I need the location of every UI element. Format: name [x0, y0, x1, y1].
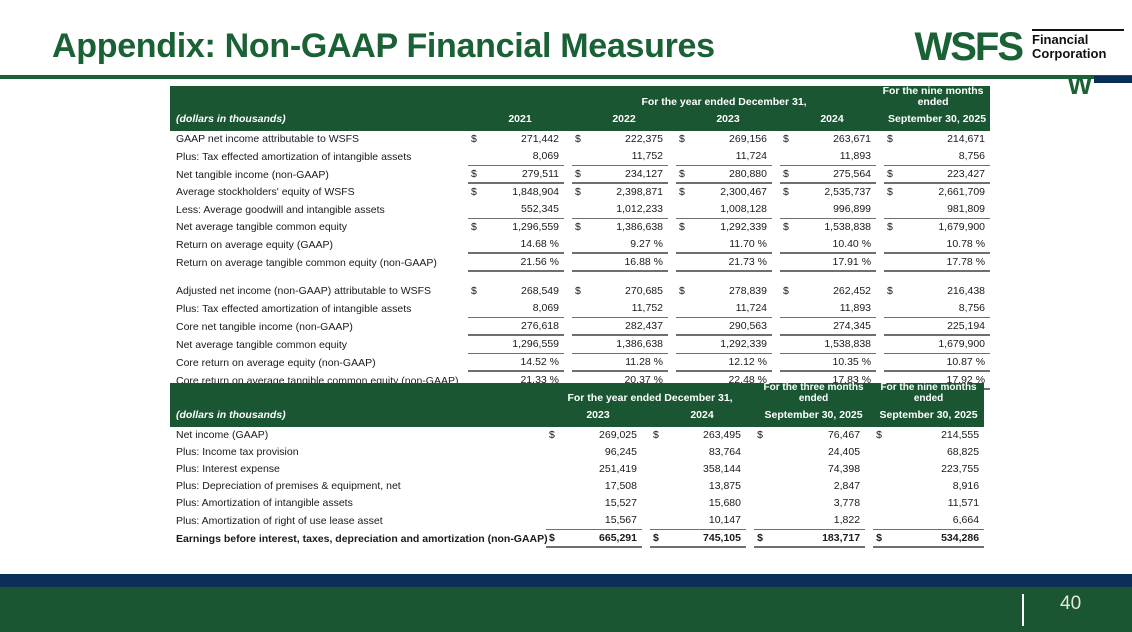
page-title: Appendix: Non-GAAP Financial Measures: [52, 27, 715, 66]
table-row: Net tangible income (non-GAAP)$279,511$2…: [170, 166, 990, 184]
value-cell: 223,755: [889, 461, 984, 478]
currency-symbol: [873, 444, 889, 461]
group-header-year-ended: For the year ended December 31,: [572, 86, 876, 108]
non-gaap-returns-table: For the year ended December 31, For the …: [170, 86, 990, 390]
currency-symbol: $: [873, 530, 889, 548]
currency-symbol: [676, 254, 692, 272]
value-cell: 10,147: [666, 512, 746, 530]
value-cell: 2,535,737: [796, 184, 876, 202]
col-header-2023: 2023: [676, 108, 780, 125]
currency-symbol: $: [650, 427, 666, 444]
currency-symbol: [572, 354, 588, 372]
value-cell: 1,848,904: [484, 184, 564, 202]
currency-symbol: [650, 461, 666, 478]
value-cell: 11.70 %: [692, 236, 772, 254]
table-one-group-header-row: For the year ended December 31, For the …: [170, 86, 990, 108]
group-header-nine-months: For the nine months ended: [873, 383, 984, 404]
value-cell: 183,717: [770, 530, 865, 548]
value-cell: 11,571: [889, 495, 984, 512]
currency-symbol: $: [884, 219, 900, 237]
currency-symbol: [468, 148, 484, 166]
currency-symbol: $: [546, 530, 562, 548]
currency-symbol: $: [676, 184, 692, 202]
currency-symbol: [676, 201, 692, 219]
currency-symbol: [468, 354, 484, 372]
currency-symbol: $: [780, 166, 796, 184]
currency-symbol: [468, 336, 484, 354]
table-section-spacer: [170, 272, 990, 284]
table-two-group-header-row: For the year ended December 31, For the …: [170, 383, 984, 404]
currency-symbol: [468, 236, 484, 254]
table-row: Earnings before interest, taxes, depreci…: [170, 530, 984, 548]
value-cell: 10.87 %: [900, 354, 990, 372]
value-cell: 534,286: [889, 530, 984, 548]
row-label: Earnings before interest, taxes, depreci…: [170, 530, 538, 548]
currency-symbol: $: [676, 219, 692, 237]
value-cell: 1,386,638: [588, 219, 668, 237]
table-two-body: Net income (GAAP)$269,025$263,495$76,467…: [170, 427, 984, 548]
value-cell: 270,685: [588, 283, 668, 300]
units-label: (dollars in thousands): [170, 404, 538, 421]
row-label: Net average tangible common equity: [170, 219, 460, 237]
col-header-2024: 2024: [650, 404, 754, 421]
value-cell: 268,549: [484, 283, 564, 300]
row-label: Plus: Income tax provision: [170, 444, 538, 461]
currency-symbol: $: [572, 219, 588, 237]
value-cell: 214,555: [889, 427, 984, 444]
col-header-three-months-sept-2025: September 30, 2025: [754, 404, 873, 421]
value-cell: 17,508: [562, 478, 642, 495]
value-cell: 271,442: [484, 131, 564, 148]
currency-symbol: [754, 478, 770, 495]
value-cell: 2,847: [770, 478, 865, 495]
wsfs-wordmark: WSFS: [914, 28, 1022, 66]
currency-symbol: $: [468, 166, 484, 184]
currency-symbol: $: [572, 131, 588, 148]
footer-navy-bar: [0, 574, 1132, 587]
row-label: Return on average equity (GAAP): [170, 236, 460, 254]
group-header-year-ended: For the year ended December 31,: [546, 383, 754, 404]
value-cell: 10.40 %: [796, 236, 876, 254]
value-cell: 15,567: [562, 512, 642, 530]
row-label: Core return on average equity (non-GAAP): [170, 354, 460, 372]
currency-symbol: [468, 201, 484, 219]
value-cell: 15,527: [562, 495, 642, 512]
currency-symbol: $: [468, 131, 484, 148]
wsfs-w-mark-icon: W: [1067, 72, 1092, 98]
currency-symbol: [650, 512, 666, 530]
currency-symbol: $: [884, 283, 900, 300]
currency-symbol: [572, 336, 588, 354]
currency-symbol: [780, 201, 796, 219]
currency-symbol: $: [780, 219, 796, 237]
value-cell: 24,405: [770, 444, 865, 461]
currency-symbol: [884, 354, 900, 372]
value-cell: 9.27 %: [588, 236, 668, 254]
currency-symbol: $: [873, 427, 889, 444]
value-cell: 358,144: [666, 461, 746, 478]
footer-green-bar: [0, 587, 1132, 632]
value-cell: 11.28 %: [588, 354, 668, 372]
footer-divider-rule: [1022, 594, 1024, 626]
value-cell: 6,664: [889, 512, 984, 530]
group-header-three-months: For the three months ended: [754, 383, 873, 404]
currency-symbol: [780, 148, 796, 166]
value-cell: 1,538,838: [796, 219, 876, 237]
value-cell: 2,398,871: [588, 184, 668, 202]
value-cell: 290,563: [692, 318, 772, 336]
table-row: Plus: Interest expense251,419358,14474,3…: [170, 461, 984, 478]
row-label: Plus: Tax effected amortization of intan…: [170, 300, 460, 318]
currency-symbol: $: [780, 283, 796, 300]
currency-symbol: $: [676, 166, 692, 184]
value-cell: 1,679,900: [900, 336, 990, 354]
row-label: Adjusted net income (non-GAAP) attributa…: [170, 283, 460, 300]
currency-symbol: $: [650, 530, 666, 548]
value-cell: 74,398: [770, 461, 865, 478]
value-cell: 8,916: [889, 478, 984, 495]
table-row: Plus: Income tax provision96,24583,76424…: [170, 444, 984, 461]
currency-symbol: $: [572, 283, 588, 300]
currency-symbol: [572, 201, 588, 219]
value-cell: 11,752: [588, 148, 668, 166]
value-cell: 11,724: [692, 300, 772, 318]
table-row: Plus: Amortization of right of use lease…: [170, 512, 984, 530]
currency-symbol: [873, 478, 889, 495]
value-cell: 12.12 %: [692, 354, 772, 372]
value-cell: 21.73 %: [692, 254, 772, 272]
value-cell: 276,618: [484, 318, 564, 336]
table-row: Net average tangible common equity$1,296…: [170, 219, 990, 237]
col-header-2021: 2021: [468, 108, 572, 125]
value-cell: 8,069: [484, 148, 564, 166]
row-label: Plus: Amortization of right of use lease…: [170, 512, 538, 530]
value-cell: 1,679,900: [900, 219, 990, 237]
col-header-sept-2025: September 30, 2025: [884, 108, 990, 125]
value-cell: 11,724: [692, 148, 772, 166]
value-cell: 1,386,638: [588, 336, 668, 354]
value-cell: 282,437: [588, 318, 668, 336]
currency-symbol: [873, 461, 889, 478]
row-label: Net income (GAAP): [170, 427, 538, 444]
value-cell: 10.78 %: [900, 236, 990, 254]
col-header-2023: 2023: [546, 404, 650, 421]
table-two-column-header-row: (dollars in thousands) 2023 2024 Septemb…: [170, 404, 984, 421]
currency-symbol: $: [572, 166, 588, 184]
currency-symbol: [676, 148, 692, 166]
value-cell: 1,292,339: [692, 219, 772, 237]
value-cell: 8,756: [900, 148, 990, 166]
currency-symbol: [468, 300, 484, 318]
logo-divider-rule: [1032, 29, 1124, 31]
value-cell: 279,511: [484, 166, 564, 184]
table-row: GAAP net income attributable to WSFS$271…: [170, 131, 990, 148]
value-cell: 11,893: [796, 148, 876, 166]
value-cell: 278,839: [692, 283, 772, 300]
table-row: Plus: Tax effected amortization of intan…: [170, 148, 990, 166]
value-cell: 263,495: [666, 427, 746, 444]
value-cell: 96,245: [562, 444, 642, 461]
value-cell: 8,756: [900, 300, 990, 318]
currency-symbol: [572, 318, 588, 336]
wsfs-logo-subtitle: Financial Corporation: [1028, 28, 1124, 61]
currency-symbol: [780, 254, 796, 272]
currency-symbol: [572, 148, 588, 166]
row-label: Core net tangible income (non-GAAP): [170, 318, 460, 336]
currency-symbol: [676, 336, 692, 354]
value-cell: 214,671: [900, 131, 990, 148]
value-cell: 996,899: [796, 201, 876, 219]
value-cell: 14.52 %: [484, 354, 564, 372]
logo-subtitle-line2: Corporation: [1032, 47, 1124, 61]
currency-symbol: $: [884, 166, 900, 184]
page-number: 40: [1060, 593, 1081, 615]
value-cell: 2,300,467: [692, 184, 772, 202]
table-row: Core return on average equity (non-GAAP)…: [170, 354, 990, 372]
value-cell: 234,127: [588, 166, 668, 184]
header-blank-cell: [170, 86, 460, 108]
row-label: Plus: Amortization of intangible assets: [170, 495, 538, 512]
wsfs-logo: WSFS Financial Corporation: [914, 28, 1124, 66]
title-underline-rule: [0, 75, 1132, 79]
row-label: Net average tangible common equity: [170, 336, 460, 354]
value-cell: 68,825: [889, 444, 984, 461]
currency-symbol: [884, 236, 900, 254]
currency-symbol: $: [754, 427, 770, 444]
value-cell: 76,467: [770, 427, 865, 444]
ebitda-reconciliation-table: For the year ended December 31, For the …: [170, 383, 984, 548]
col-header-2022: 2022: [572, 108, 676, 125]
value-cell: 1,296,559: [484, 336, 564, 354]
value-cell: 665,291: [562, 530, 642, 548]
currency-symbol: [780, 336, 796, 354]
currency-symbol: [546, 444, 562, 461]
currency-symbol: $: [780, 184, 796, 202]
currency-symbol: [884, 318, 900, 336]
table-row: Net income (GAAP)$269,025$263,495$76,467…: [170, 427, 984, 444]
currency-symbol: [780, 354, 796, 372]
value-cell: 223,427: [900, 166, 990, 184]
row-label: GAAP net income attributable to WSFS: [170, 131, 460, 148]
value-cell: 269,025: [562, 427, 642, 444]
currency-symbol: [676, 354, 692, 372]
currency-symbol: [572, 300, 588, 318]
currency-symbol: [676, 300, 692, 318]
currency-symbol: [468, 318, 484, 336]
currency-symbol: [676, 318, 692, 336]
value-cell: 552,345: [484, 201, 564, 219]
currency-symbol: [873, 495, 889, 512]
currency-symbol: $: [884, 184, 900, 202]
currency-symbol: $: [754, 530, 770, 548]
value-cell: 1,292,339: [692, 336, 772, 354]
currency-symbol: $: [468, 184, 484, 202]
currency-symbol: [884, 336, 900, 354]
value-cell: 1,538,838: [796, 336, 876, 354]
table-one-column-header-row: (dollars in thousands) 2021 2022 2023 20…: [170, 108, 990, 125]
value-cell: 3,778: [770, 495, 865, 512]
value-cell: 216,438: [900, 283, 990, 300]
value-cell: 1,008,128: [692, 201, 772, 219]
logo-navy-accent-bar: [1094, 76, 1132, 83]
currency-symbol: $: [676, 283, 692, 300]
currency-symbol: $: [572, 184, 588, 202]
table-row: Plus: Amortization of intangible assets1…: [170, 495, 984, 512]
currency-symbol: $: [780, 131, 796, 148]
logo-subtitle-line1: Financial: [1032, 33, 1124, 47]
table-row: Return on average equity (GAAP)14.68 %9.…: [170, 236, 990, 254]
group-header-nine-months: For the nine months ended: [876, 86, 990, 108]
value-cell: 274,345: [796, 318, 876, 336]
value-cell: 10.35 %: [796, 354, 876, 372]
row-label: Plus: Interest expense: [170, 461, 538, 478]
currency-symbol: [754, 461, 770, 478]
currency-symbol: [780, 318, 796, 336]
row-label: Net tangible income (non-GAAP): [170, 166, 460, 184]
col-header-nine-months-sept-2025: September 30, 2025: [873, 404, 984, 421]
value-cell: 2,661,709: [900, 184, 990, 202]
currency-symbol: [572, 254, 588, 272]
currency-symbol: [650, 495, 666, 512]
table-row: Plus: Tax effected amortization of intan…: [170, 300, 990, 318]
value-cell: 83,764: [666, 444, 746, 461]
currency-symbol: [884, 201, 900, 219]
currency-symbol: $: [546, 427, 562, 444]
value-cell: 225,194: [900, 318, 990, 336]
currency-symbol: $: [884, 131, 900, 148]
value-cell: 11,893: [796, 300, 876, 318]
currency-symbol: [884, 254, 900, 272]
currency-symbol: $: [468, 283, 484, 300]
currency-symbol: [546, 478, 562, 495]
currency-symbol: [754, 444, 770, 461]
value-cell: 11,752: [588, 300, 668, 318]
value-cell: 1,296,559: [484, 219, 564, 237]
currency-symbol: [884, 300, 900, 318]
currency-symbol: [572, 236, 588, 254]
table-row: Core net tangible income (non-GAAP)276,6…: [170, 318, 990, 336]
value-cell: 269,156: [692, 131, 772, 148]
value-cell: 263,671: [796, 131, 876, 148]
row-label: Return on average tangible common equity…: [170, 254, 460, 272]
value-cell: 17.78 %: [900, 254, 990, 272]
row-label: Less: Average goodwill and intangible as…: [170, 201, 460, 219]
value-cell: 17.91 %: [796, 254, 876, 272]
table-row: Less: Average goodwill and intangible as…: [170, 201, 990, 219]
table-row: Plus: Depreciation of premises & equipme…: [170, 478, 984, 495]
table-row: Adjusted net income (non-GAAP) attributa…: [170, 283, 990, 300]
currency-symbol: [780, 236, 796, 254]
currency-symbol: $: [676, 131, 692, 148]
currency-symbol: [546, 495, 562, 512]
col-header-2024: 2024: [780, 108, 884, 125]
currency-symbol: [468, 254, 484, 272]
value-cell: 280,880: [692, 166, 772, 184]
value-cell: 981,809: [900, 201, 990, 219]
value-cell: 275,564: [796, 166, 876, 184]
value-cell: 15,680: [666, 495, 746, 512]
currency-symbol: [546, 512, 562, 530]
currency-symbol: [650, 444, 666, 461]
currency-symbol: [546, 461, 562, 478]
value-cell: 222,375: [588, 131, 668, 148]
currency-symbol: [780, 300, 796, 318]
currency-symbol: [873, 512, 889, 530]
currency-symbol: $: [468, 219, 484, 237]
currency-symbol: [754, 512, 770, 530]
value-cell: 13,875: [666, 478, 746, 495]
currency-symbol: [650, 478, 666, 495]
units-label: (dollars in thousands): [170, 108, 460, 125]
row-label: Plus: Tax effected amortization of intan…: [170, 148, 460, 166]
table-row: Return on average tangible common equity…: [170, 254, 990, 272]
row-label: Plus: Depreciation of premises & equipme…: [170, 478, 538, 495]
value-cell: 745,105: [666, 530, 746, 548]
table-row: Net average tangible common equity1,296,…: [170, 336, 990, 354]
table-row: Average stockholders' equity of WSFS$1,8…: [170, 184, 990, 202]
currency-symbol: [884, 148, 900, 166]
value-cell: 1,822: [770, 512, 865, 530]
value-cell: 14.68 %: [484, 236, 564, 254]
currency-symbol: [754, 495, 770, 512]
value-cell: 8,069: [484, 300, 564, 318]
row-label: Average stockholders' equity of WSFS: [170, 184, 460, 202]
value-cell: 16.88 %: [588, 254, 668, 272]
value-cell: 1,012,233: [588, 201, 668, 219]
value-cell: 251,419: [562, 461, 642, 478]
value-cell: 262,452: [796, 283, 876, 300]
currency-symbol: [676, 236, 692, 254]
table-one-body: GAAP net income attributable to WSFS$271…: [170, 131, 990, 390]
value-cell: 21.56 %: [484, 254, 564, 272]
